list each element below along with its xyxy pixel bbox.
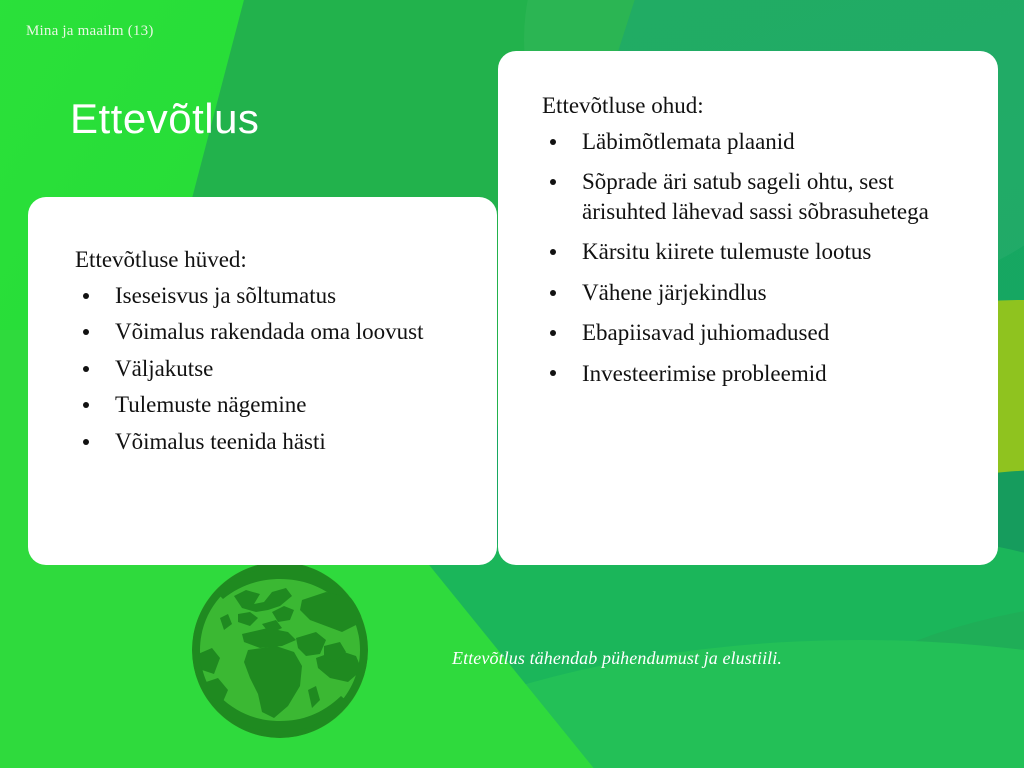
bullet-icon	[550, 249, 556, 255]
list-item: Tulemuste nägemine	[75, 390, 471, 419]
risks-card: Ettevõtluse ohud: Läbimõtlemata plaanid …	[498, 51, 998, 565]
list-item-label: Vähene järjekindlus	[582, 280, 767, 305]
list-item-label: Kärsitu kiirete tulemuste lootus	[582, 239, 871, 264]
bullet-icon	[550, 139, 556, 145]
benefits-heading: Ettevõtluse hüved:	[75, 245, 471, 275]
list-item-label: Ebapiisavad juhiomadused	[582, 320, 829, 345]
list-item: Ebapiisavad juhiomadused	[542, 318, 976, 347]
bullet-icon	[550, 290, 556, 296]
bullet-icon	[83, 293, 89, 299]
bullet-icon	[83, 366, 89, 372]
list-item-label: Investeerimise probleemid	[582, 361, 827, 386]
list-item-label: Sõprade äri satub sageli ohtu, sest äris…	[582, 169, 929, 223]
benefits-list: Iseseisvus ja sõltumatus Võimalus rakend…	[75, 281, 471, 456]
list-item-label: Võimalus teenida hästi	[115, 429, 326, 454]
list-item-label: Iseseisvus ja sõltumatus	[115, 283, 336, 308]
list-item-label: Väljakutse	[115, 356, 213, 381]
risks-list: Läbimõtlemata plaanid Sõprade äri satub …	[542, 127, 976, 388]
list-item: Võimalus rakendada oma loovust	[75, 317, 471, 346]
list-item: Läbimõtlemata plaanid	[542, 127, 976, 156]
bullet-icon	[83, 439, 89, 445]
slide-caption: Ettevõtlus tähendab pühendumust ja elust…	[452, 648, 782, 669]
bullet-icon	[550, 330, 556, 336]
bullet-icon	[550, 179, 556, 185]
list-item-label: Tulemuste nägemine	[115, 392, 306, 417]
bullet-icon	[83, 402, 89, 408]
list-item: Sõprade äri satub sageli ohtu, sest äris…	[542, 167, 976, 226]
benefits-card: Ettevõtluse hüved: Iseseisvus ja sõltuma…	[28, 197, 497, 565]
risks-heading: Ettevõtluse ohud:	[542, 91, 976, 121]
globe-icon	[176, 562, 384, 744]
list-item: Investeerimise probleemid	[542, 359, 976, 388]
presentation-slide: Mina ja maailm (13) Ettevõtlus Ettevõtlu…	[0, 0, 1024, 768]
list-item-label: Võimalus rakendada oma loovust	[115, 319, 424, 344]
list-item: Võimalus teenida hästi	[75, 427, 471, 456]
list-item: Vähene järjekindlus	[542, 278, 976, 307]
list-item: Iseseisvus ja sõltumatus	[75, 281, 471, 310]
page-title: Ettevõtlus	[70, 95, 259, 143]
slide-eyebrow: Mina ja maailm (13)	[26, 23, 154, 40]
background-lime-mask-2	[700, 600, 1024, 768]
list-item: Kärsitu kiirete tulemuste lootus	[542, 237, 976, 266]
list-item: Väljakutse	[75, 354, 471, 383]
bullet-icon	[550, 370, 556, 376]
list-item-label: Läbimõtlemata plaanid	[582, 129, 795, 154]
bullet-icon	[83, 329, 89, 335]
